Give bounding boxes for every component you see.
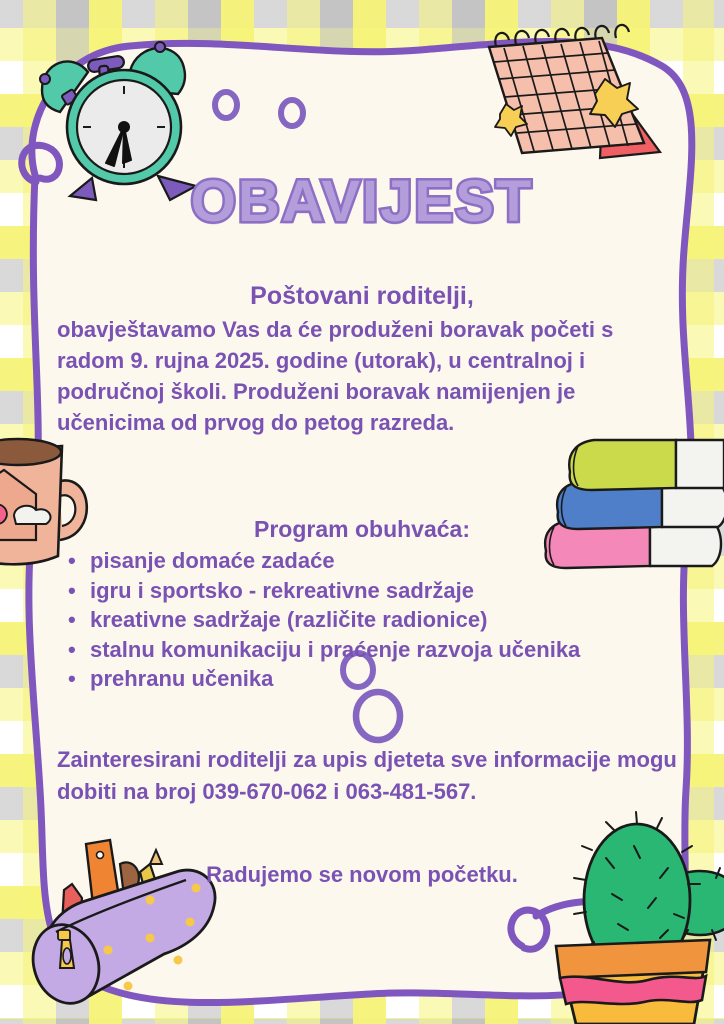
list-item: prehranu učenika: [62, 664, 702, 694]
list-item: pisanje domaće zadaće: [62, 546, 702, 576]
page-title: OBAVIJEST: [0, 168, 724, 235]
program-list: pisanje domaće zadaće igru i sportsko - …: [62, 546, 702, 694]
closing-text: Radujemo se novom početku.: [0, 862, 724, 888]
body-paragraph: obavještavamo Vas da će produženi borava…: [57, 314, 677, 438]
page-title-text: OBAVIJEST: [191, 169, 533, 234]
list-item: kreativne sadržaje (različite radionice): [62, 605, 702, 635]
list-item: stalnu komunikaciju i praćenje razvoja u…: [62, 635, 702, 665]
poster-root: OBAVIJEST Poštovani roditelji, obavješta…: [0, 0, 724, 1024]
poster-content: OBAVIJEST Poštovani roditelji, obavješta…: [0, 0, 724, 1024]
salutation-text: Poštovani roditelji,: [0, 282, 724, 311]
contact-text: Zainteresirani roditelji za upis djeteta…: [57, 744, 682, 808]
program-heading: Program obuhvaća:: [0, 516, 724, 543]
list-item: igru i sportsko - rekreativne sadržaje: [62, 576, 702, 606]
